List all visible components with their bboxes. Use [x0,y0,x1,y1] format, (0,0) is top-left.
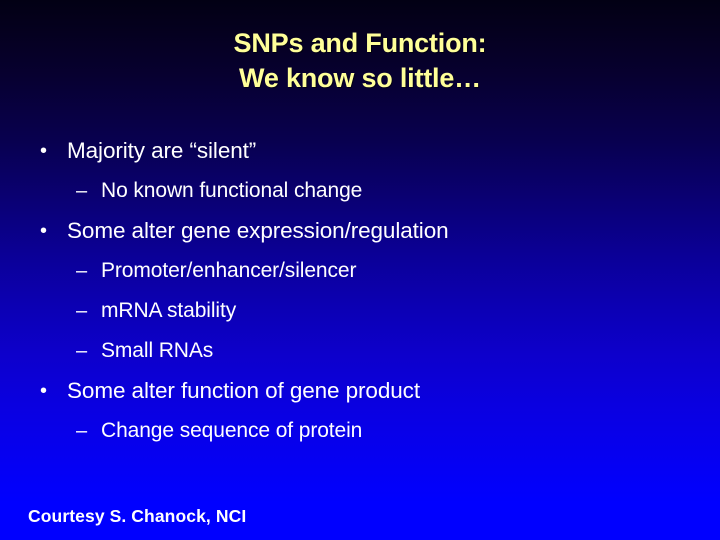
bullet-item-level2: – mRNA stability [0,291,720,331]
slide-attribution-footer: Courtesy S. Chanock, NCI [28,506,246,527]
bullet-text: Small RNAs [101,331,213,371]
dash-bullet-icon: – [76,251,87,291]
bullet-text: No known functional change [101,171,362,211]
bullet-point-icon: • [40,371,47,411]
dash-bullet-icon: – [76,411,87,451]
bullet-item-level1: • Some alter function of gene product [0,371,720,411]
bullet-item-level2: – Small RNAs [0,331,720,371]
dash-bullet-icon: – [76,171,87,211]
bullet-text: Change sequence of protein [101,411,362,451]
slide-title-line-2: We know so little… [0,61,720,96]
bullet-item-level1: • Majority are “silent” [0,131,720,171]
bullet-item-level2: – Promoter/enhancer/silencer [0,251,720,291]
presentation-slide: SNPs and Function: We know so little… • … [0,0,720,540]
bullet-item-level2: – No known functional change [0,171,720,211]
bullet-text: Some alter function of gene product [67,371,420,411]
bullet-text: mRNA stability [101,291,236,331]
bullet-text: Some alter gene expression/regulation [67,211,449,251]
bullet-text: Majority are “silent” [67,131,256,171]
slide-bullet-list: • Majority are “silent” – No known funct… [0,131,720,451]
bullet-text: Promoter/enhancer/silencer [101,251,356,291]
bullet-point-icon: • [40,131,47,171]
bullet-point-icon: • [40,211,47,251]
bullet-item-level1: • Some alter gene expression/regulation [0,211,720,251]
bullet-item-level2: – Change sequence of protein [0,411,720,451]
dash-bullet-icon: – [76,291,87,331]
slide-title-line-1: SNPs and Function: [0,26,720,61]
slide-title: SNPs and Function: We know so little… [0,26,720,96]
dash-bullet-icon: – [76,331,87,371]
